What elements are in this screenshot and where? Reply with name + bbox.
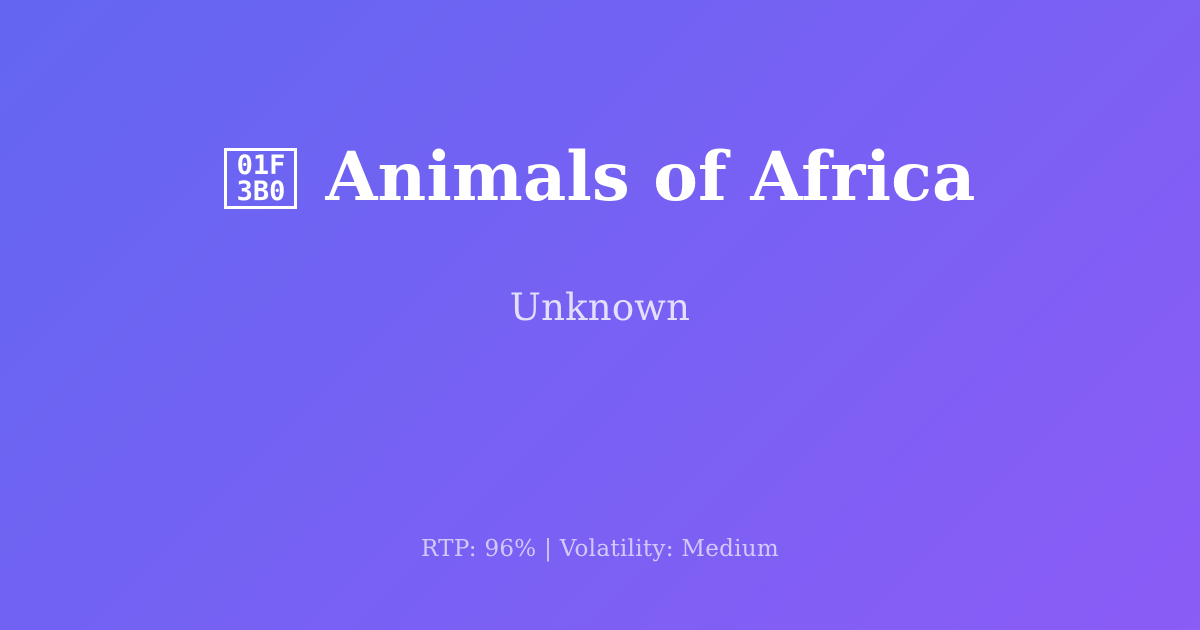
footer: RTP: 96% | Volatility: Medium <box>0 536 1200 564</box>
tofu-codepoint-line-2: 3B0 <box>237 179 286 205</box>
provider-subtitle: Unknown <box>510 213 690 330</box>
title-row: 01F 3B0 Animals of Africa <box>224 141 975 213</box>
game-info-card: 01F 3B0 Animals of Africa Unknown RTP: 9… <box>0 0 1200 630</box>
hero-block: 01F 3B0 Animals of Africa Unknown <box>0 0 1200 470</box>
page-title: Animals of Africa <box>325 141 975 213</box>
tofu-codepoint-line-1: 01F <box>237 153 286 179</box>
slot-machine-icon: 01F 3B0 <box>224 148 297 209</box>
game-stats-line: RTP: 96% | Volatility: Medium <box>421 536 779 564</box>
